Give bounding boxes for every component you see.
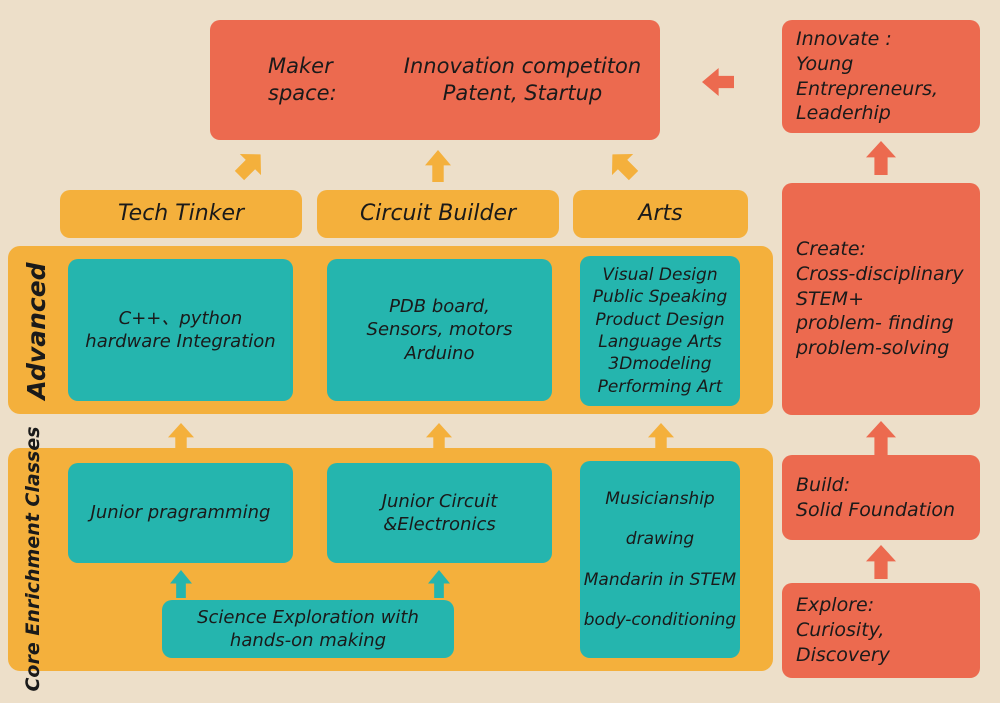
outcome-explore: Explore: Curiosity, Discovery: [782, 583, 980, 678]
advanced-circuit-builder-text: PDB board, Sensors, motors Arduino: [367, 295, 513, 365]
advanced-circuit-builder-card[interactable]: PDB board, Sensors, motors Arduino: [327, 259, 552, 401]
core-foundation-card[interactable]: Science Exploration with hands-on making: [162, 600, 454, 658]
track-arts-label: Arts: [638, 200, 682, 229]
maker-space-label: Maker space:: [268, 53, 337, 108]
outcome-create: Create: Cross-disciplinary STEM+ problem…: [782, 183, 980, 415]
outcome-innovate-label: Innovate : Young Entrepreneurs, Leaderhi…: [796, 27, 938, 126]
arrow-tech-tinker-to-makerspace-icon: [229, 144, 271, 186]
arrow-build-to-create-icon: [866, 421, 896, 455]
core-circuit-builder-text: Junior Circuit &Electronics: [382, 490, 498, 537]
arrow-create-to-innovate-icon: [866, 141, 896, 175]
track-arts[interactable]: Arts: [573, 190, 748, 238]
outcome-innovate: Innovate : Young Entrepreneurs, Leaderhi…: [782, 20, 980, 133]
advanced-tech-tinker-text: C++、python hardware Integration: [85, 307, 275, 354]
outcome-explore-label: Explore: Curiosity, Discovery: [796, 593, 890, 667]
advanced-band-label: Advanced: [23, 247, 49, 415]
advanced-band-label-text: Advanced: [22, 262, 51, 399]
arrow-arts-to-makerspace-icon: [602, 144, 644, 186]
core-foundation-text: Science Exploration with hands-on making: [197, 606, 419, 653]
core-enrichment-band-label: Core Enrichment Classes: [21, 436, 45, 682]
outcome-create-label: Create: Cross-disciplinary STEM+ problem…: [796, 237, 964, 360]
innovation-outcome-label: Innovation competiton Patent, Startup: [404, 53, 641, 108]
advanced-tech-tinker-card[interactable]: C++、python hardware Integration: [68, 259, 293, 401]
track-tech-tinker-label: Tech Tinker: [118, 200, 244, 229]
advanced-arts-card[interactable]: Visual Design Public Speaking Product De…: [580, 256, 740, 406]
core-tech-tinker-text: Junior pragramming: [91, 501, 271, 524]
track-tech-tinker[interactable]: Tech Tinker: [60, 190, 302, 238]
core-circuit-builder-card[interactable]: Junior Circuit &Electronics: [327, 463, 552, 563]
track-circuit-builder-label: Circuit Builder: [360, 200, 516, 229]
outcome-build: Build: Solid Foundation: [782, 455, 980, 540]
core-enrichment-band-label-text: Core Enrichment Classes: [22, 426, 44, 691]
core-arts-card[interactable]: Musicianship drawing Mandarin in STEM bo…: [580, 461, 740, 658]
track-circuit-builder[interactable]: Circuit Builder: [317, 190, 559, 238]
outcome-build-label: Build: Solid Foundation: [796, 473, 955, 522]
innovation-outcome-label-wrap: Innovation competiton Patent, Startup: [385, 20, 660, 140]
advanced-arts-text: Visual Design Public Speaking Product De…: [593, 264, 728, 399]
arrow-circuit-builder-to-makerspace-icon: [425, 150, 451, 182]
arrow-makerspace-to-innovate-icon: [702, 68, 734, 96]
arrow-explore-to-build-icon: [866, 545, 896, 579]
core-arts-text: Musicianship drawing Mandarin in STEM bo…: [584, 489, 736, 629]
diagram-canvas: Maker space: Innovation competiton Paten…: [0, 0, 1000, 703]
core-tech-tinker-card[interactable]: Junior pragramming: [68, 463, 293, 563]
